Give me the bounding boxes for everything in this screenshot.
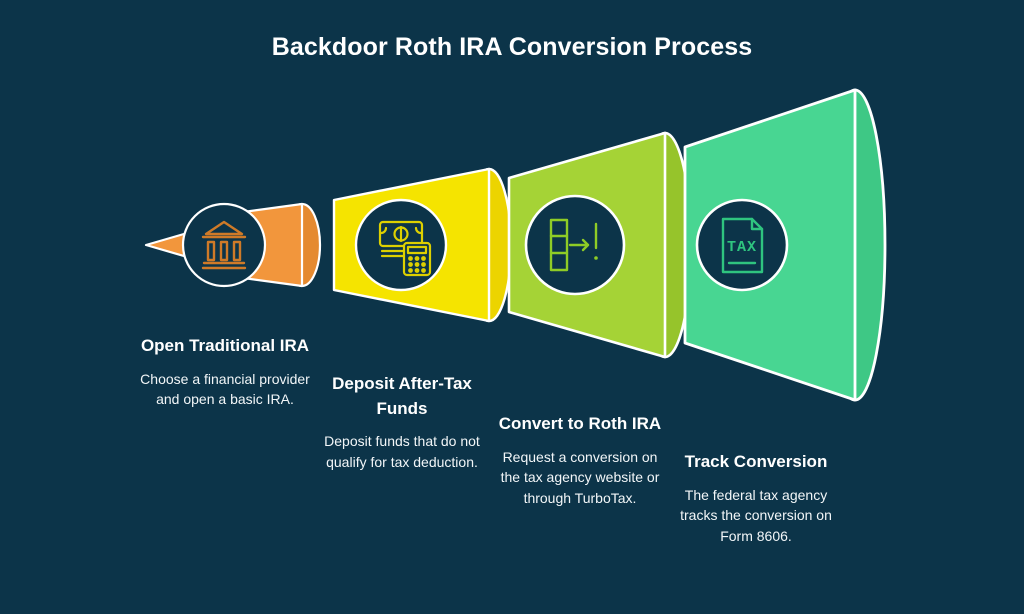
funnel-diagram: TAX <box>0 0 1024 614</box>
stage-title-2: Deposit After-Tax Funds <box>316 372 488 421</box>
stage-title-1: Open Traditional IRA <box>139 334 311 359</box>
stage-description-2: Deposit funds that do not qualify for ta… <box>316 431 488 472</box>
stage-caption-1: Open Traditional IRA Choose a financial … <box>139 334 311 410</box>
stage-title-3: Convert to Roth IRA <box>494 412 666 437</box>
stage-description-3: Request a conversion on the tax agency w… <box>494 447 666 508</box>
funnel-stage-3[interactable] <box>509 133 691 357</box>
stage-1-icon-disc <box>183 204 265 286</box>
funnel-stage-4[interactable]: TAX <box>685 90 885 400</box>
stage-caption-3: Convert to Roth IRA Request a conversion… <box>494 412 666 508</box>
stage-caption-2: Deposit After-Tax Funds Deposit funds th… <box>316 372 488 472</box>
tax-document-label: TAX <box>727 239 757 256</box>
infographic-canvas: Backdoor Roth IRA Conversion Process <box>0 0 1024 614</box>
stage-title-4: Track Conversion <box>670 450 842 475</box>
funnel-stage-1[interactable] <box>146 204 320 286</box>
funnel-stage-2[interactable] <box>334 169 511 321</box>
stage-caption-4: Track Conversion The federal tax agency … <box>670 450 842 546</box>
stage-description-4: The federal tax agency tracks the conver… <box>670 485 842 546</box>
stage-description-1: Choose a financial provider and open a b… <box>139 369 311 410</box>
